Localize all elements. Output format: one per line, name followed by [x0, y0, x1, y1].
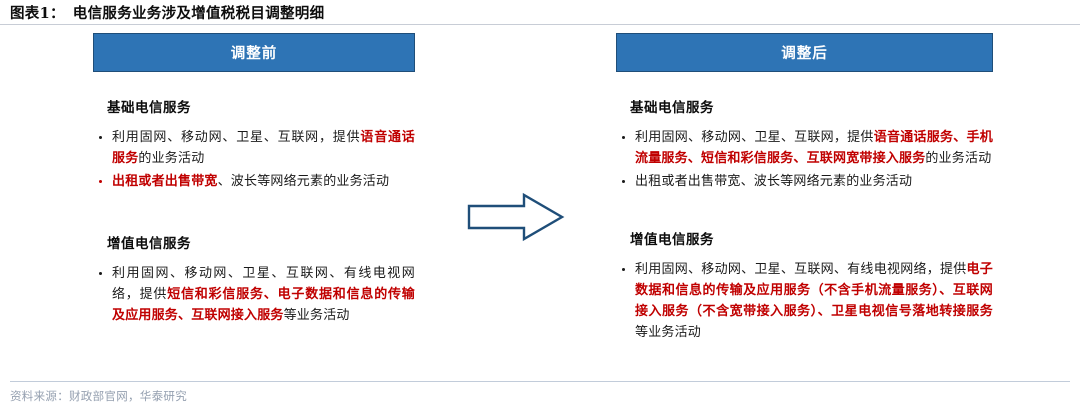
bullet-item: 出租或者出售带宽、波长等网络元素的业务活动	[616, 171, 993, 192]
body-text: 等业务活动	[284, 308, 350, 323]
section-heading: 增值电信服务	[107, 232, 415, 252]
bullet-item: 利用固网、移动网、卫星、互联网，提供语音通话服务的业务活动	[93, 127, 415, 169]
bullet-item: 利用固网、移动网、卫星、互联网、有线电视网络，提供电子数据和信息的传输及应用服务…	[616, 259, 993, 343]
section-heading: 增值电信服务	[630, 228, 993, 248]
exhibit-title-text: 电信服务业务涉及增值税税目调整明细	[73, 5, 325, 22]
sections-before: 基础电信服务利用固网、移动网、卫星、互联网，提供语音通话服务的业务活动出租或者出…	[93, 96, 415, 326]
bullet-list: 利用固网、移动网、卫星、互联网、有线电视网络，提供电子数据和信息的传输及应用服务…	[616, 259, 993, 343]
bullet-item: 出租或者出售带宽、波长等网络元素的业务活动	[93, 171, 415, 192]
body-text: 利用固网、移动网、卫星、互联网，提供	[635, 130, 874, 145]
title-divider	[0, 24, 1080, 25]
section-heading: 基础电信服务	[630, 96, 993, 116]
body-text: 利用固网、移动网、卫星、互联网、有线电视网络，提供	[635, 262, 967, 277]
column-after: 调整后 基础电信服务利用固网、移动网、卫星、互联网，提供语音通话服务、手机流量服…	[616, 33, 993, 345]
section-after-1: 增值电信服务利用固网、移动网、卫星、互联网、有线电视网络，提供电子数据和信息的传…	[616, 228, 993, 343]
highlight-text: 出租或者出售带宽	[112, 174, 218, 189]
footer-divider	[10, 381, 1070, 382]
bullet-list: 利用固网、移动网、卫星、互联网，提供语音通话服务、手机流量服务、短信和彩信服务、…	[616, 127, 993, 192]
page-title: 图表1：电信服务业务涉及增值税税目调整明细	[10, 2, 324, 23]
right-arrow-icon	[466, 192, 566, 242]
body-text: 等业务活动	[635, 325, 701, 340]
body-text: 、波长等网络元素的业务活动	[218, 174, 390, 189]
panel-header-after: 调整后	[616, 33, 993, 72]
bullet-list: 利用固网、移动网、卫星、互联网、有线电视网络，提供短信和彩信服务、电子数据和信息…	[93, 263, 415, 326]
body-text: 的业务活动	[925, 151, 991, 166]
bullet-item: 利用固网、移动网、卫星、互联网、有线电视网络，提供短信和彩信服务、电子数据和信息…	[93, 263, 415, 326]
exhibit-number: 图表1：	[10, 5, 65, 22]
body-text: 的业务活动	[138, 151, 204, 166]
bullet-item: 利用固网、移动网、卫星、互联网，提供语音通话服务、手机流量服务、短信和彩信服务、…	[616, 127, 993, 169]
column-before: 调整前 基础电信服务利用固网、移动网、卫星、互联网，提供语音通话服务的业务活动出…	[93, 33, 415, 328]
sections-after: 基础电信服务利用固网、移动网、卫星、互联网，提供语音通话服务、手机流量服务、短信…	[616, 96, 993, 343]
section-after-0: 基础电信服务利用固网、移动网、卫星、互联网，提供语音通话服务、手机流量服务、短信…	[616, 96, 993, 192]
source-note: 资料来源：财政部官网，华泰研究	[10, 388, 187, 404]
body-text: 利用固网、移动网、卫星、互联网，提供	[112, 130, 360, 145]
bullet-list: 利用固网、移动网、卫星、互联网，提供语音通话服务的业务活动出租或者出售带宽、波长…	[93, 127, 415, 192]
body-text: 出租或者出售带宽、波长等网络元素的业务活动	[635, 174, 912, 189]
section-before-0: 基础电信服务利用固网、移动网、卫星、互联网，提供语音通话服务的业务活动出租或者出…	[93, 96, 415, 192]
panel-header-before: 调整前	[93, 33, 415, 72]
section-before-1: 增值电信服务利用固网、移动网、卫星、互联网、有线电视网络，提供短信和彩信服务、电…	[93, 232, 415, 326]
section-heading: 基础电信服务	[107, 96, 415, 116]
